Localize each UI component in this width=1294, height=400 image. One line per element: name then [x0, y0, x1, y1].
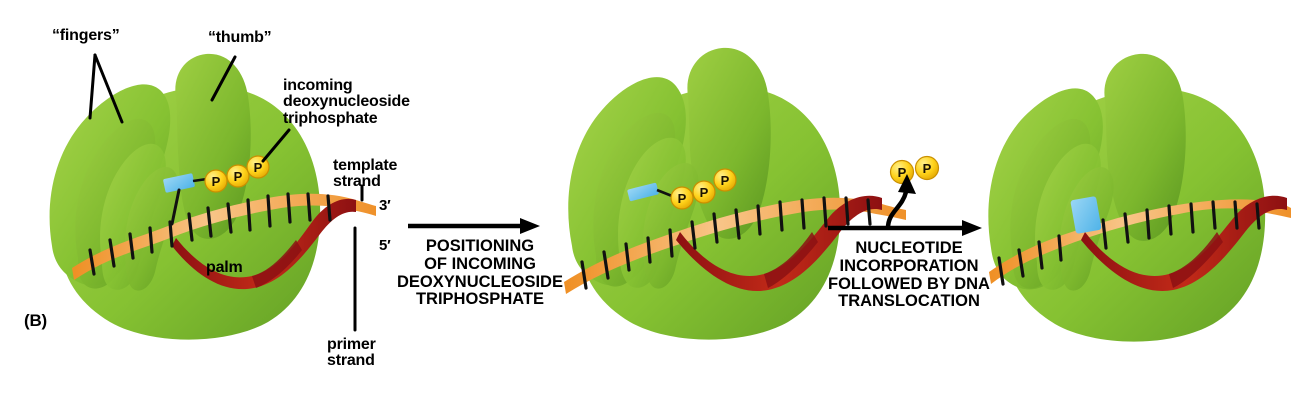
label-thumb: “thumb”	[208, 30, 271, 46]
panel-open-polymerase: P P P “fingers” “thumb” incoming deoxynu…	[0, 0, 400, 400]
caption-line: NUCLEOTIDE	[804, 240, 1014, 258]
label-incoming-dntp-line1: incoming	[283, 78, 410, 94]
phosphate-letter: P	[254, 160, 263, 175]
label-template-strand: template strand	[333, 158, 397, 191]
caption-incorporation: NUCLEOTIDE INCORPORATION FOLLOWED BY DNA…	[804, 240, 1014, 311]
label-incoming-dntp-line3: triphosphate	[283, 111, 410, 127]
caption-line: TRANSLOCATION	[804, 293, 1014, 311]
branched-right-and-up-arrow-icon	[828, 192, 962, 228]
arrow-incorporation: P P	[810, 0, 1000, 400]
phosphate-letter: P	[721, 173, 730, 188]
panel-label-b: (B)	[24, 312, 47, 329]
transition-incorporation: P P NUCLEOTIDE INCORPORATION FOLLOWED BY…	[810, 0, 1000, 400]
label-fingers: “fingers”	[52, 28, 120, 44]
phosphate-letter: P	[234, 169, 243, 184]
released-pyrophosphate: P P	[891, 157, 939, 184]
phosphate-letter: P	[923, 161, 932, 176]
caption-line: FOLLOWED BY DNA	[804, 276, 1014, 294]
phosphate-letter: P	[212, 174, 221, 189]
label-primer-strand: primer strand	[327, 337, 376, 370]
panel-translocated-polymerase	[985, 0, 1294, 400]
figure-canvas: P P P “fingers” “thumb” incoming deoxynu…	[0, 0, 1294, 400]
panel3-graphic	[985, 0, 1294, 400]
arrowhead-right	[962, 220, 982, 236]
label-3-prime: 3′	[379, 198, 391, 213]
phosphate-letter: P	[700, 185, 709, 200]
label-incoming-dntp: incoming deoxynucleoside triphosphate	[283, 78, 410, 127]
caption-line: INCORPORATION	[804, 258, 1014, 276]
label-incoming-dntp-line2: deoxynucleoside	[283, 94, 410, 110]
label-palm: palm	[206, 260, 243, 276]
label-primer-line2: strand	[327, 353, 376, 369]
label-template-line2: strand	[333, 174, 397, 190]
label-primer-line1: primer	[327, 337, 376, 353]
phosphate-letter: P	[678, 191, 687, 206]
label-template-line1: template	[333, 158, 397, 174]
